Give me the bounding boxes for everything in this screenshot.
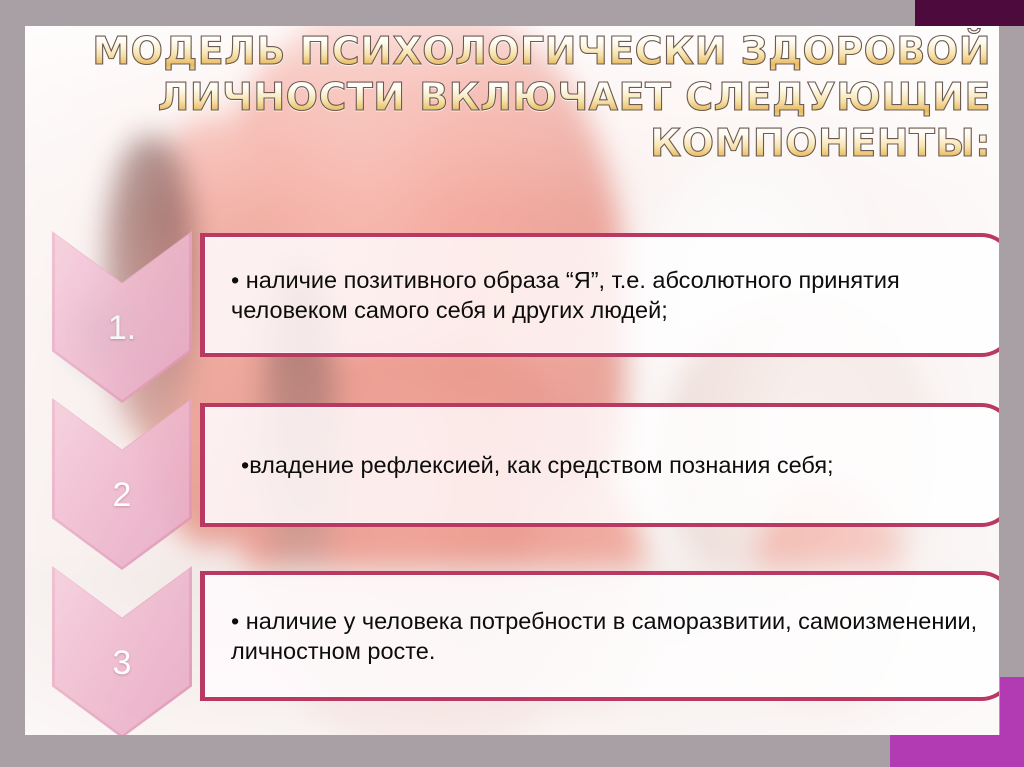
frame-accent-bottom-left [0, 735, 892, 767]
content-box-3: • наличие у человека потребности в самор… [200, 571, 999, 701]
frame-accent-right-edge [1000, 677, 1024, 767]
content-box-2: •владение рефлексией, как средством позн… [200, 403, 999, 527]
step-number-1: 1. [108, 311, 136, 403]
slide-canvas: Модель психологически здоровой личности … [25, 26, 999, 735]
frame-accent-top-right [915, 0, 1024, 26]
title-line-3: компоненты: [46, 120, 991, 166]
step-number-2: 2 [113, 478, 132, 570]
title-line-1: Модель психологически здоровой [46, 28, 991, 74]
slide-title: Модель психологически здоровой личности … [46, 28, 991, 166]
slide-root: Модель психологически здоровой личности … [0, 0, 1024, 767]
content-box-1: • наличие позитивного образа “Я”, т.е. а… [200, 233, 999, 357]
content-text-3: • наличие у человека потребности в самор… [205, 606, 999, 666]
content-text-2: •владение рефлексией, как средством позн… [205, 450, 999, 480]
title-line-2: личности включает следующие [46, 74, 991, 120]
step-number-3: 3 [113, 646, 132, 735]
content-text-1: • наличие позитивного образа “Я”, т.е. а… [205, 265, 999, 325]
